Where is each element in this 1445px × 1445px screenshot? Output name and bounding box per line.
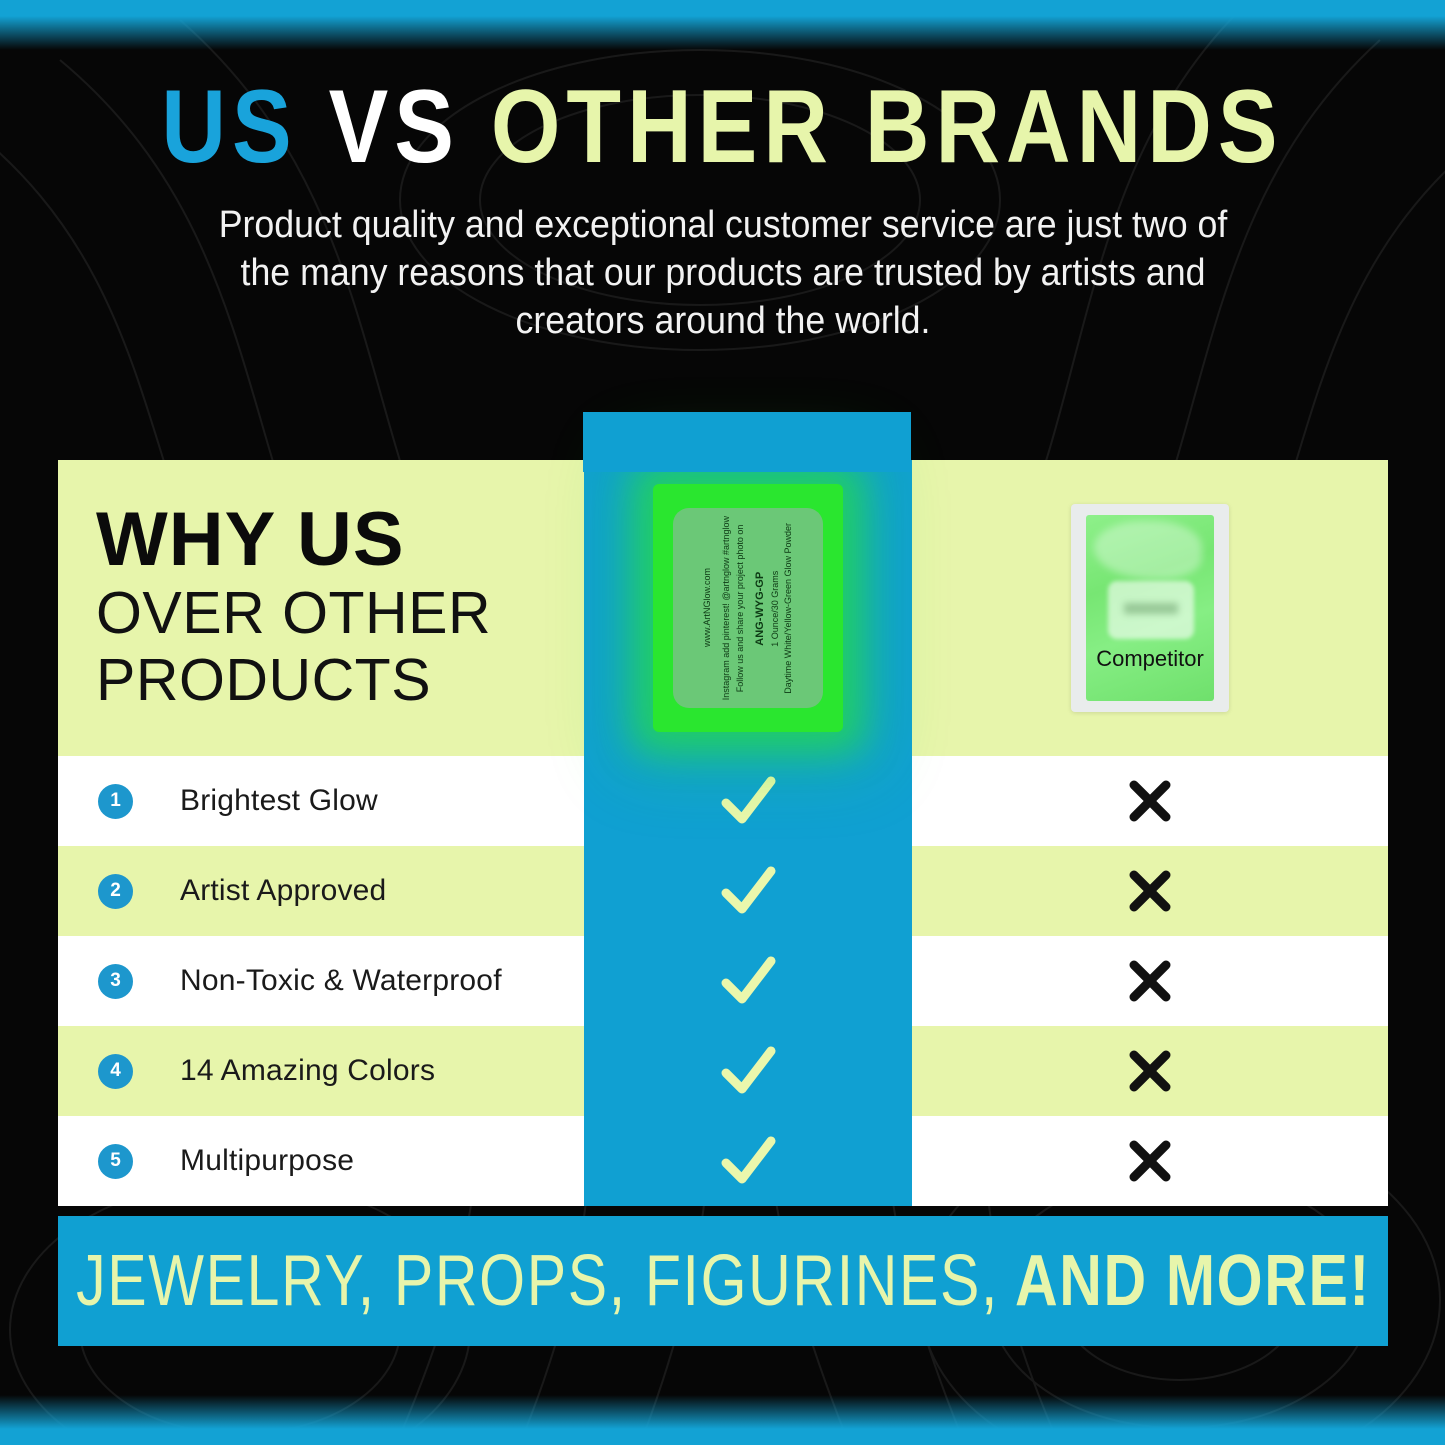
top-edge-fade xyxy=(0,16,1445,50)
cross-icon xyxy=(1124,1045,1176,1097)
title-word-us: US xyxy=(161,69,297,185)
us-value-cell xyxy=(584,846,912,936)
package-front-label: Daytime White/Yellow-Green Glow Powder 1… xyxy=(673,508,823,708)
cross-icon xyxy=(1124,775,1176,827)
table-header-row: WHY US OVER OTHER PRODUCTS Daytime White… xyxy=(58,460,1388,756)
us-column-riser xyxy=(583,412,911,472)
competitor-value-cell xyxy=(912,936,1388,1026)
check-icon xyxy=(716,949,780,1013)
package-sku: ANG-WYG-GP xyxy=(754,523,768,694)
banner-text: JEWELRY, PROPS, FIGURINES, AND MORE! xyxy=(76,1240,1371,1322)
row-number-badge: 5 xyxy=(98,1144,133,1179)
artnglow-glow-powder-package: Daytime White/Yellow-Green Glow Powder 1… xyxy=(653,484,843,732)
row-number-badge: 3 xyxy=(98,964,133,999)
top-edge-strip xyxy=(0,0,1445,16)
table-row: 3 Non-Toxic & Waterproof xyxy=(58,936,1388,1026)
package-label-left-group: Daytime White/Yellow-Green Glow Powder 1… xyxy=(754,523,794,694)
why-us-heading: WHY US xyxy=(96,504,405,577)
check-icon xyxy=(716,769,780,833)
feature-cell: 2 Artist Approved xyxy=(58,846,584,936)
competitor-blurred-label-patch xyxy=(1108,581,1194,639)
page-title: US VS OTHER BRANDS xyxy=(101,74,1344,180)
bottom-edge-strip xyxy=(0,1429,1445,1445)
table-row: 1 Brightest Glow xyxy=(58,756,1388,846)
feature-cell: 1 Brightest Glow xyxy=(58,756,584,846)
us-value-cell xyxy=(584,936,912,1026)
row-number-badge: 1 xyxy=(98,784,133,819)
title-word-vs: VS xyxy=(329,69,460,185)
package-social-line-2: Instagram add pinterest! @artnglow #artn… xyxy=(721,516,732,700)
bottom-edge-fade xyxy=(0,1395,1445,1429)
us-value-cell xyxy=(584,1116,912,1206)
page-subtitle: Product quality and exceptional customer… xyxy=(191,202,1253,346)
package-website: www.ArtNGlow.com xyxy=(702,568,713,647)
table-row: 5 Multipurpose xyxy=(58,1116,1388,1206)
bottom-banner: JEWELRY, PROPS, FIGURINES, AND MORE! xyxy=(58,1216,1388,1346)
poster-root: US VS OTHER BRANDS Product quality and e… xyxy=(0,0,1445,1445)
over-other-line-2: PRODUCTS xyxy=(96,650,431,711)
us-value-cell xyxy=(584,1026,912,1116)
feature-cell: 4 14 Amazing Colors xyxy=(58,1026,584,1116)
feature-label: Artist Approved xyxy=(180,874,386,908)
banner-text-strong: AND MORE! xyxy=(999,1241,1371,1321)
competitor-value-cell xyxy=(912,1116,1388,1206)
table-row: 2 Artist Approved xyxy=(58,846,1388,936)
check-icon xyxy=(716,859,780,923)
check-icon xyxy=(716,1129,780,1193)
title-word-other-brands: OTHER BRANDS xyxy=(491,69,1284,185)
package-weight: 1 Ounce/30 Grams xyxy=(770,523,781,694)
cross-icon xyxy=(1124,865,1176,917)
competitor-package-contents xyxy=(1086,515,1214,701)
competitor-powder-package: Competitor xyxy=(1071,504,1229,712)
over-other-line-1: OVER OTHER xyxy=(96,583,491,644)
feature-cell: 5 Multipurpose xyxy=(58,1116,584,1206)
feature-label: Multipurpose xyxy=(180,1144,354,1178)
comparison-table: WHY US OVER OTHER PRODUCTS Daytime White… xyxy=(58,460,1388,1206)
package-label-middle-group: Follow us and share your project photo o… xyxy=(721,516,746,700)
package-label-right-group: www.ArtNGlow.com xyxy=(702,568,713,647)
competitor-value-cell xyxy=(912,756,1388,846)
cross-icon xyxy=(1124,955,1176,1007)
row-number-badge: 2 xyxy=(98,874,133,909)
us-value-cell xyxy=(584,756,912,846)
package-social-line-1: Follow us and share your project photo o… xyxy=(735,516,746,700)
row-number-badge: 4 xyxy=(98,1054,133,1089)
feature-label: Non-Toxic & Waterproof xyxy=(180,964,502,998)
competitor-value-cell xyxy=(912,846,1388,936)
header-block: US VS OTHER BRANDS Product quality and e… xyxy=(0,74,1445,346)
check-icon xyxy=(716,1039,780,1103)
feature-cell: 3 Non-Toxic & Waterproof xyxy=(58,936,584,1026)
cross-icon xyxy=(1124,1135,1176,1187)
feature-label: 14 Amazing Colors xyxy=(180,1054,435,1088)
competitor-value-cell xyxy=(912,1026,1388,1116)
banner-text-normal: JEWELRY, PROPS, FIGURINES, xyxy=(76,1241,999,1321)
table-row: 4 14 Amazing Colors xyxy=(58,1026,1388,1116)
why-us-heading-cell: WHY US OVER OTHER PRODUCTS xyxy=(58,460,584,756)
feature-label: Brightest Glow xyxy=(180,784,378,818)
competitor-label: Competitor xyxy=(1071,646,1229,672)
us-product-cell: Daytime White/Yellow-Green Glow Powder 1… xyxy=(584,460,912,756)
package-product-name: Daytime White/Yellow-Green Glow Powder xyxy=(783,523,794,694)
competitor-product-cell: Competitor xyxy=(912,460,1388,756)
package-plastic-sheen xyxy=(1094,521,1202,579)
